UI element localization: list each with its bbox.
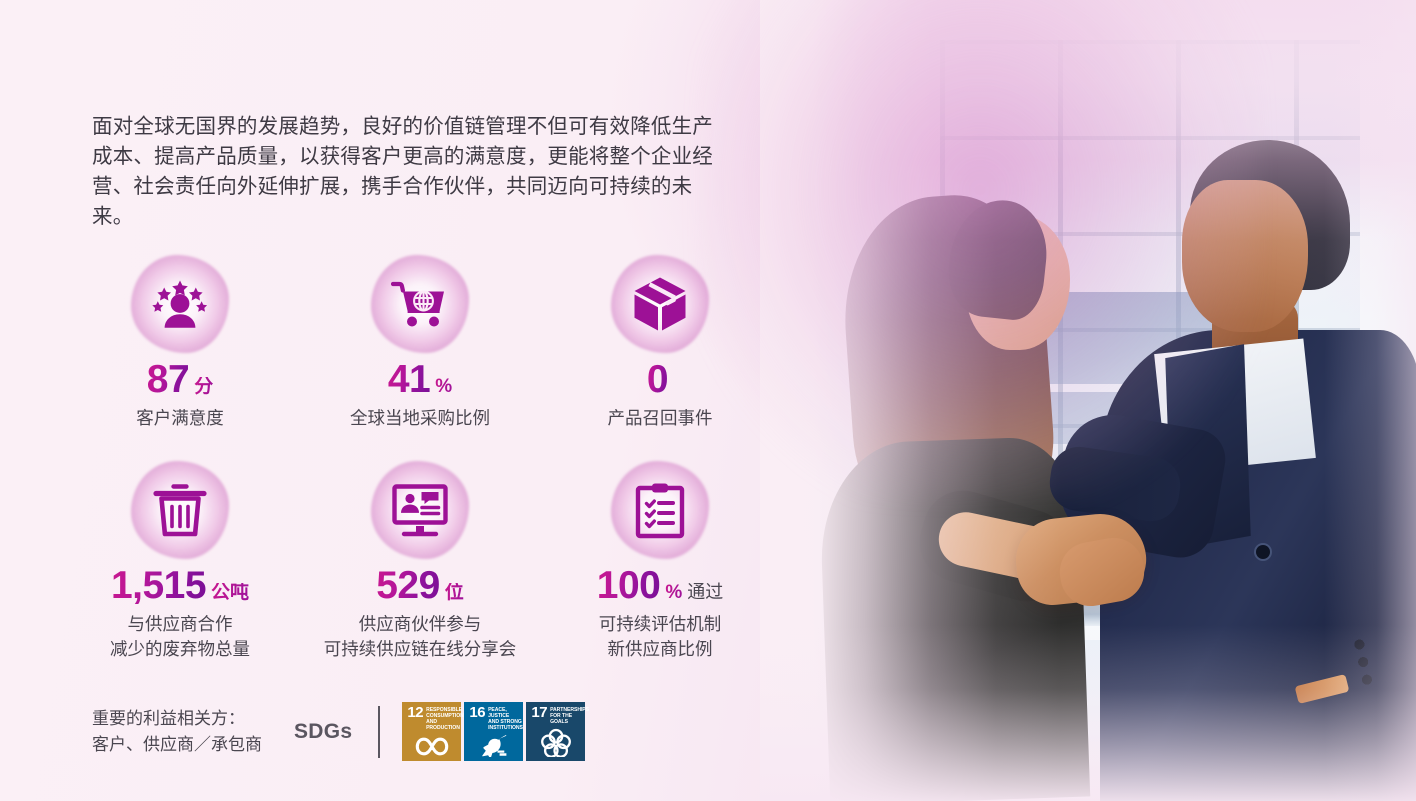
- stat-customer-satisfaction: 87 分 客户满意度: [60, 258, 300, 464]
- stat-icon-blob: [374, 258, 466, 350]
- sdg-badge-16[interactable]: 16 PEACE, JUSTICE AND STRONG INSTITUTION…: [464, 702, 523, 761]
- stat-unit: 位: [445, 583, 464, 602]
- sdg-number: 12: [407, 707, 423, 719]
- stat-waste-reduced: 1,515 公吨 与供应商合作 减少的废弃物总量: [60, 464, 300, 670]
- stat-number: 1,515: [111, 566, 206, 605]
- intro-text: 面对全球无国界的发展趋势，良好的价值链管理不但可有效降低生产成本、提高产品质量，…: [92, 112, 732, 232]
- stat-local-procurement: 41 % 全球当地采购比例: [300, 258, 540, 464]
- infographic-page: 面对全球无国界的发展趋势，良好的价值链管理不但可有效降低生产成本、提高产品质量，…: [0, 0, 1416, 801]
- sdg-number: 17: [531, 707, 547, 719]
- sdg-title: RESPONSIBLE CONSUMPTION AND PRODUCTION: [426, 707, 464, 731]
- stat-caption: 客户满意度: [136, 406, 224, 431]
- stat-caption: 与供应商合作 减少的废弃物总量: [110, 612, 250, 662]
- stat-caption: 产品召回事件: [608, 406, 713, 431]
- intro-paragraph: 面对全球无国界的发展趋势，良好的价值链管理不但可有效降低生产成本、提高产品质量，…: [92, 112, 732, 232]
- stat-unit: 公吨: [211, 583, 249, 602]
- sdg-number: 16: [469, 707, 485, 719]
- stat-value: 41 %: [388, 360, 452, 399]
- stat-value: 529 位: [376, 566, 464, 605]
- stat-icon-blob: [134, 464, 226, 556]
- stat-icon-blob: [614, 464, 706, 556]
- stat-value: 100 % 通过: [597, 566, 723, 605]
- sdg-heading: 17 PARTNERSHIPS FOR THE GOALS: [531, 707, 581, 725]
- caption-line: 可持续评估机制: [599, 612, 722, 637]
- footer-divider: [378, 706, 380, 758]
- sdgs-label: SDGs: [294, 720, 352, 744]
- sdg-badge-17[interactable]: 17 PARTNERSHIPS FOR THE GOALS: [526, 702, 585, 761]
- business-handshake-photo: [760, 0, 1416, 801]
- stat-number: 0: [647, 360, 668, 399]
- stat-icon-blob: [614, 258, 706, 350]
- stat-value: 87 分: [147, 360, 213, 399]
- caption-line: 全球当地采购比例: [350, 406, 490, 431]
- stat-unit: %: [665, 583, 682, 602]
- stat-value: 1,515 公吨: [111, 566, 249, 605]
- sdg-title: PARTNERSHIPS FOR THE GOALS: [550, 707, 589, 725]
- stat-caption: 可持续评估机制 新供应商比例: [599, 612, 722, 662]
- stat-number: 41: [388, 360, 430, 399]
- caption-line: 供应商伙伴参与: [324, 612, 517, 637]
- stat-number: 100: [597, 566, 661, 605]
- stat-number: 529: [376, 566, 440, 605]
- stat-supplier-partners: 529 位 供应商伙伴参与 可持续供应链在线分享会: [300, 464, 540, 670]
- stat-icon-blob: [374, 464, 466, 556]
- stakeholders-title: 重要的利益相关方：: [92, 706, 288, 732]
- stat-value: 0: [647, 360, 673, 399]
- person-with-stars-icon: [151, 278, 209, 330]
- caption-line: 可持续供应链在线分享会: [324, 637, 517, 662]
- caption-line: 与供应商合作: [110, 612, 250, 637]
- content-column: 面对全球无国界的发展趋势，良好的价值链管理不但可有效降低生产成本、提高产品质量，…: [0, 0, 770, 801]
- stat-assessment-pass-rate: 100 % 通过 可持续评估机制 新供应商比例: [540, 464, 780, 670]
- shopping-cart-globe-icon: [391, 278, 449, 330]
- caption-line: 新供应商比例: [599, 637, 722, 662]
- caption-line: 减少的废弃物总量: [110, 637, 250, 662]
- stakeholders-list: 客户、供应商／承包商: [92, 732, 288, 758]
- caption-line: 产品召回事件: [608, 406, 713, 431]
- clipboard-checklist-icon: [634, 481, 686, 539]
- online-meeting-monitor-icon: [391, 483, 449, 537]
- stat-product-recalls: 0 产品召回事件: [540, 258, 780, 464]
- stat-caption: 供应商伙伴参与 可持续供应链在线分享会: [324, 612, 517, 662]
- trash-bin-icon: [153, 482, 207, 538]
- sdg-badge-12[interactable]: 12 RESPONSIBLE CONSUMPTION AND PRODUCTIO…: [402, 702, 461, 761]
- sdg-heading: 16 PEACE, JUSTICE AND STRONG INSTITUTION…: [469, 707, 519, 731]
- infinity-icon: [402, 736, 461, 757]
- photo-fade-right: [760, 0, 1416, 801]
- stakeholders-block: 重要的利益相关方： 客户、供应商／承包商: [92, 706, 288, 758]
- stat-icon-blob: [134, 258, 226, 350]
- stat-caption: 全球当地采购比例: [350, 406, 490, 431]
- stat-number: 87: [147, 360, 189, 399]
- footer-bar: 重要的利益相关方： 客户、供应商／承包商 SDGs 12 RESPONSIBLE…: [92, 702, 585, 761]
- package-box-icon: [632, 276, 688, 332]
- sdg-heading: 12 RESPONSIBLE CONSUMPTION AND PRODUCTIO…: [407, 707, 457, 731]
- stat-unit: 分: [194, 377, 213, 396]
- interlocking-circles-icon: [526, 728, 585, 757]
- stats-grid: 87 分 客户满意度: [60, 258, 780, 670]
- caption-line: 客户满意度: [136, 406, 224, 431]
- sdg-title: PEACE, JUSTICE AND STRONG INSTITUTIONS: [488, 707, 523, 731]
- sdg-badge-list: 12 RESPONSIBLE CONSUMPTION AND PRODUCTIO…: [402, 702, 585, 761]
- stat-suffix: 通过: [687, 583, 723, 601]
- dove-gavel-icon: [464, 733, 523, 757]
- stat-unit: %: [435, 377, 452, 396]
